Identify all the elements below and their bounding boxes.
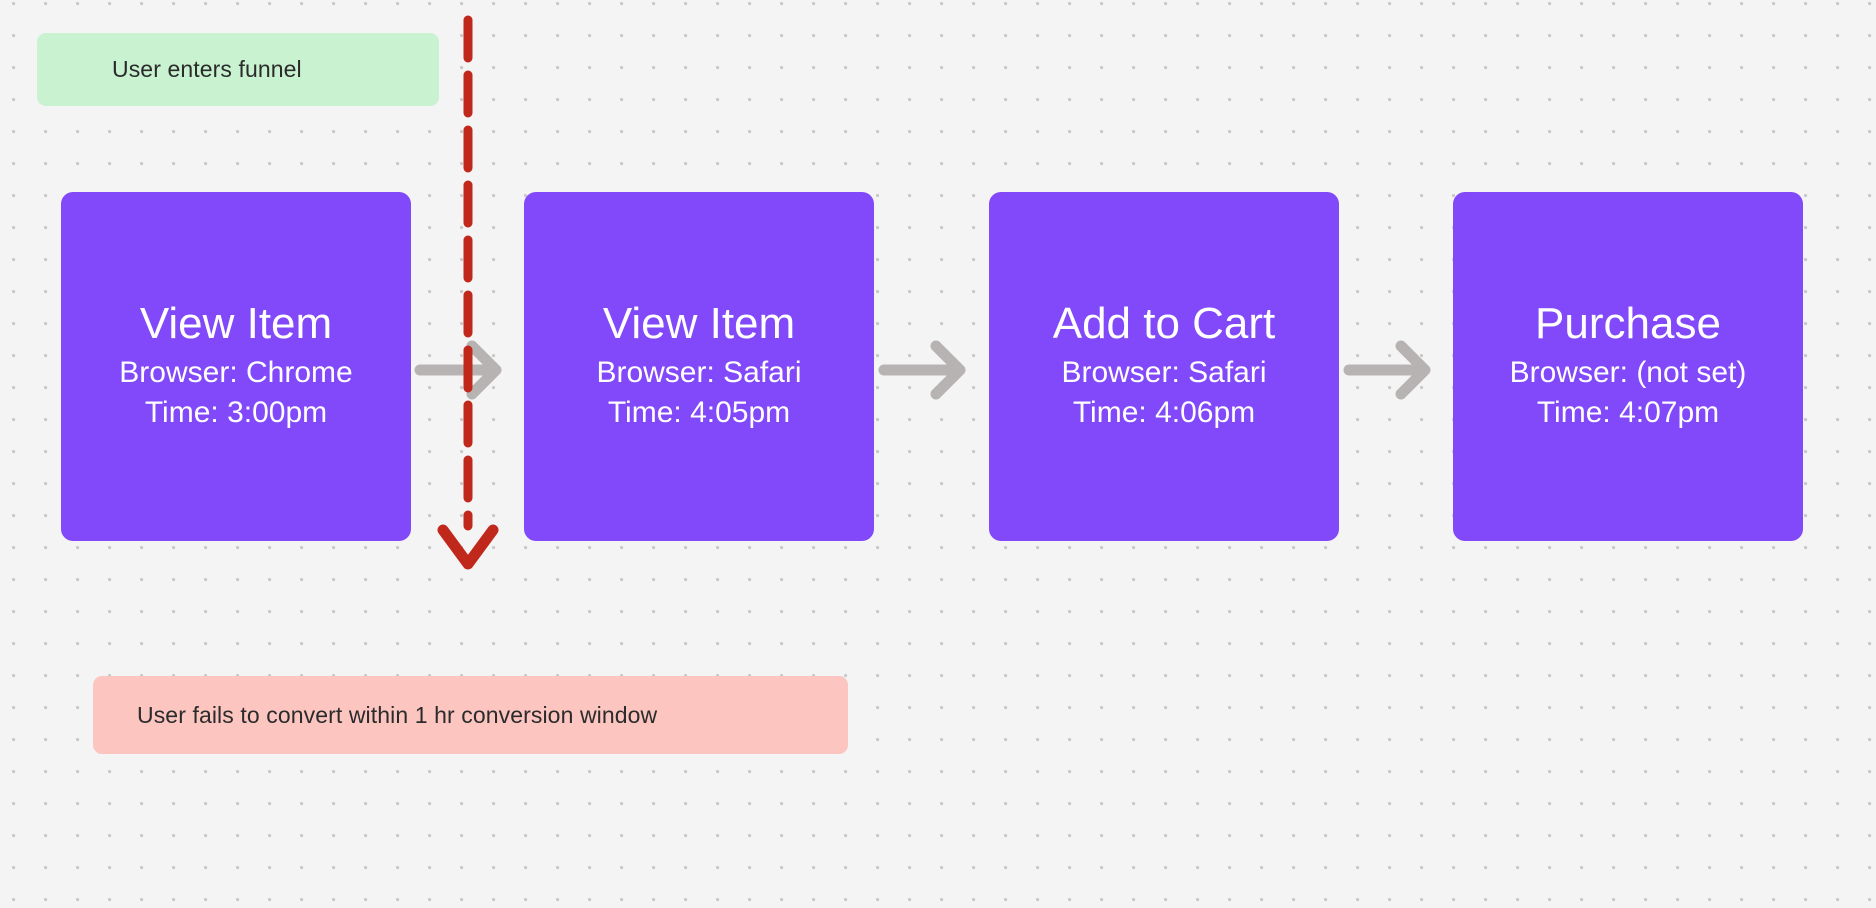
- funnel-step-view-item-safari[interactable]: View Item Browser: Safari Time: 4:05pm: [524, 192, 874, 541]
- funnel-step-view-item-chrome[interactable]: View Item Browser: Chrome Time: 3:00pm: [61, 192, 411, 541]
- diagram-canvas: User enters funnel View Item Browser: Ch…: [0, 0, 1876, 908]
- dropoff-dashed-arrow-icon: [437, 18, 499, 678]
- step-time: Time: 4:06pm: [1073, 393, 1255, 433]
- step-title: Add to Cart: [1053, 301, 1276, 347]
- step-time: Time: 4:05pm: [608, 393, 790, 433]
- step-time: Time: 4:07pm: [1537, 393, 1719, 433]
- step-time: Time: 3:00pm: [145, 393, 327, 433]
- step-title: Purchase: [1535, 301, 1721, 347]
- step-browser: Browser: Safari: [596, 353, 801, 393]
- step-browser: Browser: (not set): [1510, 353, 1747, 393]
- funnel-step-purchase[interactable]: Purchase Browser: (not set) Time: 4:07pm: [1453, 192, 1803, 541]
- annotation-label: User enters funnel: [112, 55, 302, 84]
- connector-arrow-right-icon: [1347, 338, 1433, 402]
- funnel-step-add-to-cart[interactable]: Add to Cart Browser: Safari Time: 4:06pm: [989, 192, 1339, 541]
- annotation-conversion-window-failure[interactable]: User fails to convert within 1 hr conver…: [93, 676, 848, 754]
- connector-arrow-right-icon: [882, 338, 968, 402]
- step-title: View Item: [603, 301, 795, 347]
- annotation-label: User fails to convert within 1 hr conver…: [137, 701, 657, 730]
- step-browser: Browser: Safari: [1061, 353, 1266, 393]
- step-browser: Browser: Chrome: [119, 353, 352, 393]
- step-title: View Item: [140, 301, 332, 347]
- annotation-user-enters-funnel[interactable]: User enters funnel: [37, 33, 439, 106]
